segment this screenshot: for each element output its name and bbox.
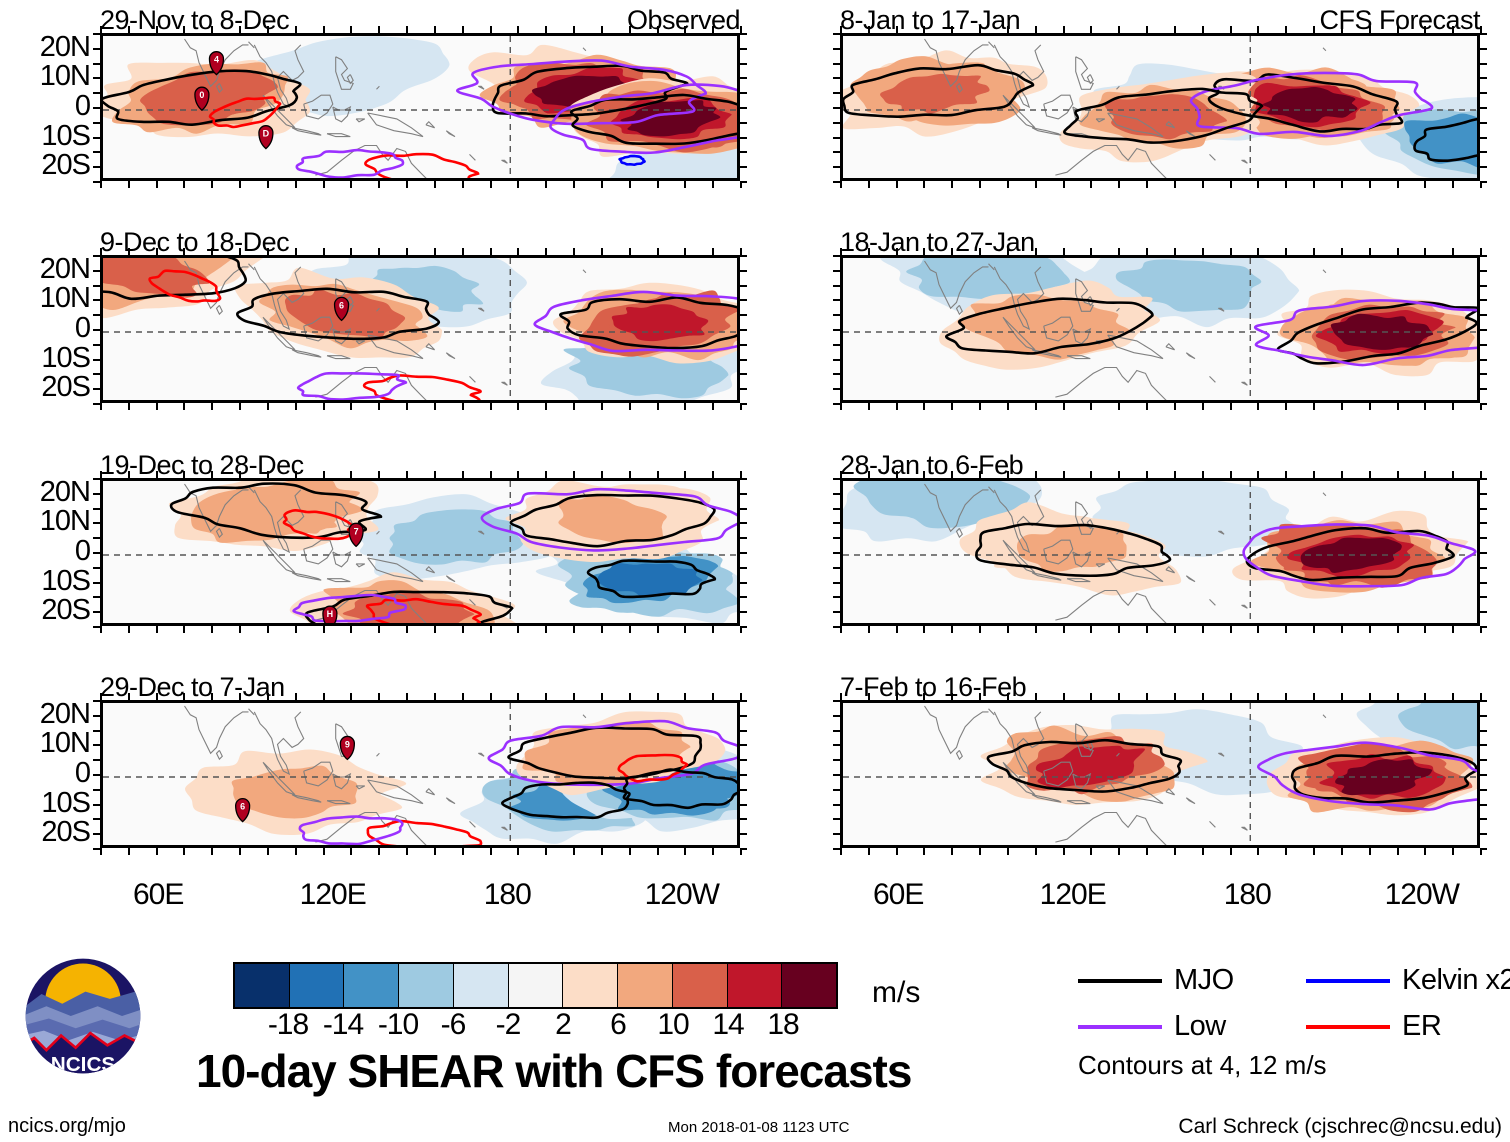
colorbar-tick-labels: -18-14-10-6-226101418: [233, 1010, 838, 1044]
axis-tick: [573, 693, 575, 700]
axis-tick: [462, 248, 464, 255]
axis-tick: [100, 26, 102, 33]
axis-tick: [490, 403, 492, 410]
axis-tick: [211, 26, 213, 33]
axis-tick: [1341, 181, 1343, 188]
axis-tick: [156, 626, 158, 633]
axis-tick: [657, 181, 659, 188]
axis-tick: [1480, 774, 1487, 776]
colorbar-tick-label: -6: [441, 1010, 466, 1040]
svg-text:4: 4: [214, 55, 219, 65]
axis-tick: [462, 693, 464, 700]
axis-tick: [1313, 403, 1315, 410]
axis-tick: [833, 508, 840, 510]
axis-tick: [239, 626, 241, 633]
axis-tick: [833, 715, 840, 717]
axis-tick: [740, 403, 747, 405]
x-tick-label: 120W: [1385, 880, 1459, 910]
axis-tick: [1369, 26, 1371, 33]
axis-tick: [267, 693, 269, 700]
axis-tick: [1285, 181, 1287, 188]
axis-tick: [573, 848, 575, 855]
axis-tick: [833, 552, 840, 554]
axis-tick: [833, 493, 840, 495]
y-tick-label: 10S: [41, 567, 90, 596]
axis-tick: [100, 248, 102, 255]
axis-tick: [951, 848, 953, 855]
axis-tick: [406, 403, 408, 410]
axis-tick: [740, 626, 747, 628]
axis-tick: [378, 26, 380, 33]
axis-tick: [684, 403, 686, 410]
axis-tick: [833, 537, 840, 539]
axis-tick: [629, 693, 631, 700]
axis-tick: [951, 693, 953, 700]
axis-tick: [1202, 471, 1204, 478]
y-tick-label: 10N: [40, 62, 90, 91]
axis-tick: [1257, 693, 1259, 700]
axis-tick: [93, 848, 100, 850]
legend-label: ER: [1402, 1012, 1441, 1041]
axis-tick: [434, 848, 436, 855]
axis-tick: [740, 107, 747, 109]
axis-tick: [211, 848, 213, 855]
svg-text:H: H: [327, 609, 334, 619]
axis-tick: [868, 403, 870, 410]
colorbar-tick-label: 2: [555, 1010, 571, 1040]
axis-tick: [1090, 693, 1092, 700]
axis-tick: [896, 626, 898, 633]
axis-tick: [601, 626, 603, 633]
axis-tick: [323, 848, 325, 855]
axis-tick: [740, 270, 747, 272]
shear-map[interactable]: [840, 700, 1480, 848]
axis-tick: [712, 403, 714, 410]
svg-text:D: D: [263, 129, 270, 139]
axis-tick: [1230, 626, 1232, 633]
axis-tick: [1313, 693, 1315, 700]
axis-tick: [951, 248, 953, 255]
axis-tick: [573, 26, 575, 33]
axis-tick: [406, 626, 408, 633]
axis-tick: [1007, 626, 1009, 633]
axis-tick: [350, 693, 352, 700]
axis-tick: [840, 848, 842, 855]
axis-tick: [1090, 26, 1092, 33]
axis-tick: [1230, 403, 1232, 410]
axis-tick: [1035, 626, 1037, 633]
axis-tick: [629, 626, 631, 633]
axis-tick: [1480, 166, 1487, 168]
axis-tick: [93, 582, 100, 584]
axis-tick: [868, 693, 870, 700]
panel-2: 9-Dec to 18-Dec6: [100, 255, 740, 403]
colorbar-segment-10: [782, 964, 836, 1007]
axis-tick: [295, 471, 297, 478]
axis-tick: [1007, 403, 1009, 410]
colorbar-segment-8: [673, 964, 728, 1007]
panel-7: 28-Jan to 6-Feb: [840, 478, 1480, 626]
axis-tick: [740, 359, 747, 361]
axis-tick: [1341, 403, 1343, 410]
axis-tick: [1313, 248, 1315, 255]
axis-tick: [545, 403, 547, 410]
y-tick-label: 0: [75, 537, 90, 566]
axis-tick: [896, 848, 898, 855]
axis-tick: [833, 285, 840, 287]
y-tick-label: 0: [75, 759, 90, 788]
legend-label: Low: [1174, 1012, 1226, 1041]
axis-tick: [1313, 848, 1315, 855]
shear-map[interactable]: 7H: [100, 478, 740, 626]
svg-text:7: 7: [354, 526, 359, 536]
axis-tick: [1118, 248, 1120, 255]
axis-tick: [378, 248, 380, 255]
axis-tick: [1090, 848, 1092, 855]
axis-tick: [1424, 248, 1426, 255]
axis-tick: [979, 403, 981, 410]
y-tick-label: 20N: [40, 255, 90, 284]
axis-tick: [545, 248, 547, 255]
axis-tick: [712, 181, 714, 188]
axis-tick: [833, 181, 840, 183]
axis-tick: [128, 848, 130, 855]
axis-tick: [350, 248, 352, 255]
axis-tick: [1397, 693, 1399, 700]
axis-tick: [740, 693, 742, 700]
axis-tick: [833, 522, 840, 524]
axis-tick: [1257, 26, 1259, 33]
axis-tick: [93, 63, 100, 65]
axis-tick: [833, 63, 840, 65]
axis-tick: [840, 693, 842, 700]
axis-tick: [93, 700, 100, 702]
axis-tick: [1480, 122, 1487, 124]
axis-tick: [1313, 181, 1315, 188]
axis-tick: [517, 26, 519, 33]
footer-link[interactable]: ncics.org/mjo: [8, 1116, 126, 1136]
axis-tick: [1397, 848, 1399, 855]
axis-tick: [156, 848, 158, 855]
axis-tick: [740, 471, 742, 478]
axis-tick: [239, 248, 241, 255]
axis-tick: [1341, 471, 1343, 478]
axis-tick: [833, 848, 840, 850]
axis-tick: [93, 137, 100, 139]
axis-tick: [378, 693, 380, 700]
axis-tick: [183, 693, 185, 700]
axis-tick: [1452, 248, 1454, 255]
axis-tick: [350, 26, 352, 33]
axis-tick: [712, 26, 714, 33]
axis-tick: [490, 181, 492, 188]
axis-tick: [545, 626, 547, 633]
contour-note: Contours at 4, 12 m/s: [1078, 1052, 1327, 1078]
axis-tick: [156, 693, 158, 700]
axis-tick: [93, 77, 100, 79]
axis-tick: [1035, 848, 1037, 855]
axis-tick: [462, 471, 464, 478]
axis-tick: [833, 107, 840, 109]
axis-tick: [1480, 626, 1487, 628]
axis-tick: [211, 181, 213, 188]
axis-tick: [1090, 403, 1092, 410]
axis-tick: [833, 270, 840, 272]
axis-tick: [1480, 804, 1487, 806]
colorbar-units-label: m/s: [872, 978, 920, 1008]
axis-tick: [1480, 611, 1487, 613]
axis-tick: [93, 626, 100, 628]
logo-text: NCICS: [51, 1053, 116, 1076]
axis-tick: [350, 471, 352, 478]
axis-tick: [295, 403, 297, 410]
y-tick-label: 10N: [40, 507, 90, 536]
axis-tick: [833, 596, 840, 598]
axis-tick: [93, 48, 100, 50]
axis-tick: [1063, 181, 1065, 188]
axis-tick: [1480, 314, 1487, 316]
axis-tick: [896, 181, 898, 188]
axis-tick: [833, 314, 840, 316]
axis-tick: [239, 471, 241, 478]
axis-tick: [1090, 471, 1092, 478]
axis-tick: [840, 471, 842, 478]
axis-tick: [1369, 626, 1371, 633]
axis-tick: [833, 730, 840, 732]
axis-tick: [740, 255, 747, 257]
axis-tick: [93, 744, 100, 746]
axis-tick: [657, 403, 659, 410]
axis-tick: [1313, 471, 1315, 478]
axis-tick: [1118, 848, 1120, 855]
axis-tick: [1369, 693, 1371, 700]
svg-text:0: 0: [199, 90, 204, 100]
axis-tick: [378, 471, 380, 478]
axis-tick: [712, 248, 714, 255]
axis-tick: [896, 471, 898, 478]
axis-tick: [1480, 270, 1487, 272]
axis-tick: [684, 248, 686, 255]
axis-tick: [93, 567, 100, 569]
axis-tick: [545, 471, 547, 478]
axis-tick: [239, 848, 241, 855]
axis-tick: [1118, 26, 1120, 33]
axis-tick: [1452, 403, 1454, 410]
axis-tick: [740, 744, 747, 746]
axis-tick: [712, 626, 714, 633]
axis-tick: [1480, 700, 1487, 702]
axis-tick: [156, 181, 158, 188]
panel-1: 29-Nov to 8-DecObserved40D: [100, 33, 740, 181]
axis-tick: [833, 789, 840, 791]
axis-tick: [740, 63, 747, 65]
colorbar[interactable]: [233, 962, 838, 1009]
axis-tick: [740, 299, 747, 301]
legend-swatch: [1078, 979, 1162, 983]
axis-tick: [833, 299, 840, 301]
axis-tick: [684, 471, 686, 478]
column-header: CFS Forecast: [1319, 7, 1480, 34]
axis-tick: [1480, 596, 1487, 598]
axis-tick: [1397, 248, 1399, 255]
panel-5: 8-Jan to 17-JanCFS Forecast: [840, 33, 1480, 181]
axis-tick: [545, 693, 547, 700]
axis-tick: [601, 403, 603, 410]
axis-tick: [156, 248, 158, 255]
y-tick-label: 20S: [41, 373, 90, 402]
axis-tick: [1063, 26, 1065, 33]
axis-tick: [1424, 626, 1426, 633]
axis-tick: [323, 26, 325, 33]
axis-tick: [267, 471, 269, 478]
axis-tick: [323, 181, 325, 188]
axis-tick: [740, 285, 747, 287]
axis-tick: [740, 730, 747, 732]
y-tick-label: 20N: [40, 33, 90, 62]
colorbar-tick-label: -2: [496, 1010, 521, 1040]
axis-tick: [1257, 248, 1259, 255]
axis-tick: [833, 33, 840, 35]
axis-tick: [1230, 26, 1232, 33]
axis-tick: [350, 626, 352, 633]
shear-map[interactable]: 40D: [100, 33, 740, 181]
axis-tick: [1480, 359, 1487, 361]
y-tick-label: 10N: [40, 284, 90, 313]
legend-label: Kelvin x2: [1402, 966, 1510, 995]
page-title: 10-day SHEAR with CFS forecasts: [196, 1048, 911, 1094]
axis-tick: [840, 626, 842, 633]
axis-tick: [1230, 693, 1232, 700]
axis-tick: [517, 403, 519, 410]
axis-tick: [1480, 137, 1487, 139]
axis-tick: [951, 403, 953, 410]
axis-tick: [183, 471, 185, 478]
axis-tick: [378, 626, 380, 633]
axis-tick: [740, 122, 747, 124]
axis-tick: [601, 693, 603, 700]
axis-tick: [1480, 48, 1487, 50]
axis-tick: [1230, 848, 1232, 855]
axis-tick: [462, 26, 464, 33]
shear-map[interactable]: [840, 478, 1480, 626]
shear-map[interactable]: 6: [100, 255, 740, 403]
axis-tick: [490, 248, 492, 255]
axis-tick: [128, 693, 130, 700]
axis-tick: [740, 818, 747, 820]
axis-tick: [1480, 107, 1487, 109]
axis-tick: [923, 848, 925, 855]
axis-tick: [833, 774, 840, 776]
axis-tick: [601, 248, 603, 255]
axis-tick: [1424, 403, 1426, 410]
axis-tick: [1035, 248, 1037, 255]
axis-tick: [979, 26, 981, 33]
axis-tick: [684, 693, 686, 700]
axis-tick: [1480, 730, 1487, 732]
axis-tick: [1285, 471, 1287, 478]
axis-tick: [684, 26, 686, 33]
axis-tick: [1480, 493, 1487, 495]
axis-tick: [100, 848, 102, 855]
axis-tick: [833, 122, 840, 124]
axis-tick: [951, 26, 953, 33]
axis-tick: [740, 92, 747, 94]
axis-tick: [1369, 848, 1371, 855]
axis-tick: [1480, 299, 1487, 301]
axis-tick: [1341, 693, 1343, 700]
shear-map[interactable]: 96: [100, 700, 740, 848]
axis-tick: [1202, 848, 1204, 855]
axis-tick: [1285, 693, 1287, 700]
axis-tick: [93, 730, 100, 732]
axis-tick: [833, 700, 840, 702]
axis-tick: [1146, 693, 1148, 700]
x-tick-label: 120W: [645, 880, 719, 910]
axis-tick: [740, 759, 747, 761]
axis-tick: [740, 522, 747, 524]
axis-tick: [833, 137, 840, 139]
axis-tick: [1424, 26, 1426, 33]
colorbar-tick-label: 14: [712, 1010, 743, 1040]
axis-tick: [1202, 693, 1204, 700]
axis-tick: [517, 181, 519, 188]
axis-tick: [1118, 471, 1120, 478]
axis-tick: [657, 26, 659, 33]
axis-tick: [1452, 471, 1454, 478]
axis-tick: [517, 471, 519, 478]
axis-tick: [629, 403, 631, 410]
axis-tick: [100, 626, 102, 633]
axis-tick: [833, 48, 840, 50]
cyclone-marker: H: [323, 606, 337, 626]
axis-tick: [712, 693, 714, 700]
axis-tick: [1090, 181, 1092, 188]
colorbar-tick-label: -18: [268, 1010, 308, 1040]
axis-tick: [1480, 478, 1487, 480]
legend: MJOKelvin x2LowER: [1078, 966, 1498, 1048]
axis-tick: [740, 493, 747, 495]
axis-tick: [896, 248, 898, 255]
axis-tick: [1480, 344, 1487, 346]
axis-tick: [840, 26, 842, 33]
axis-tick: [1007, 471, 1009, 478]
axis-tick: [740, 77, 747, 79]
axis-tick: [1480, 248, 1482, 255]
axis-tick: [923, 626, 925, 633]
axis-tick: [545, 26, 547, 33]
axis-tick: [896, 403, 898, 410]
legend-swatch: [1078, 1025, 1162, 1029]
axis-tick: [267, 403, 269, 410]
axis-tick: [1202, 403, 1204, 410]
legend-item-low: Low: [1078, 1012, 1226, 1041]
axis-tick: [545, 181, 547, 188]
axis-tick: [740, 48, 747, 50]
axis-tick: [239, 181, 241, 188]
axis-tick: [1146, 26, 1148, 33]
axis-tick: [684, 181, 686, 188]
axis-tick: [740, 388, 747, 390]
y-tick-label: 0: [75, 314, 90, 343]
axis-tick: [1480, 373, 1487, 375]
axis-tick: [868, 26, 870, 33]
axis-tick: [601, 471, 603, 478]
axis-tick: [1424, 471, 1426, 478]
shear-map[interactable]: [840, 255, 1480, 403]
axis-tick: [868, 181, 870, 188]
axis-tick: [295, 848, 297, 855]
shear-map[interactable]: [840, 33, 1480, 181]
